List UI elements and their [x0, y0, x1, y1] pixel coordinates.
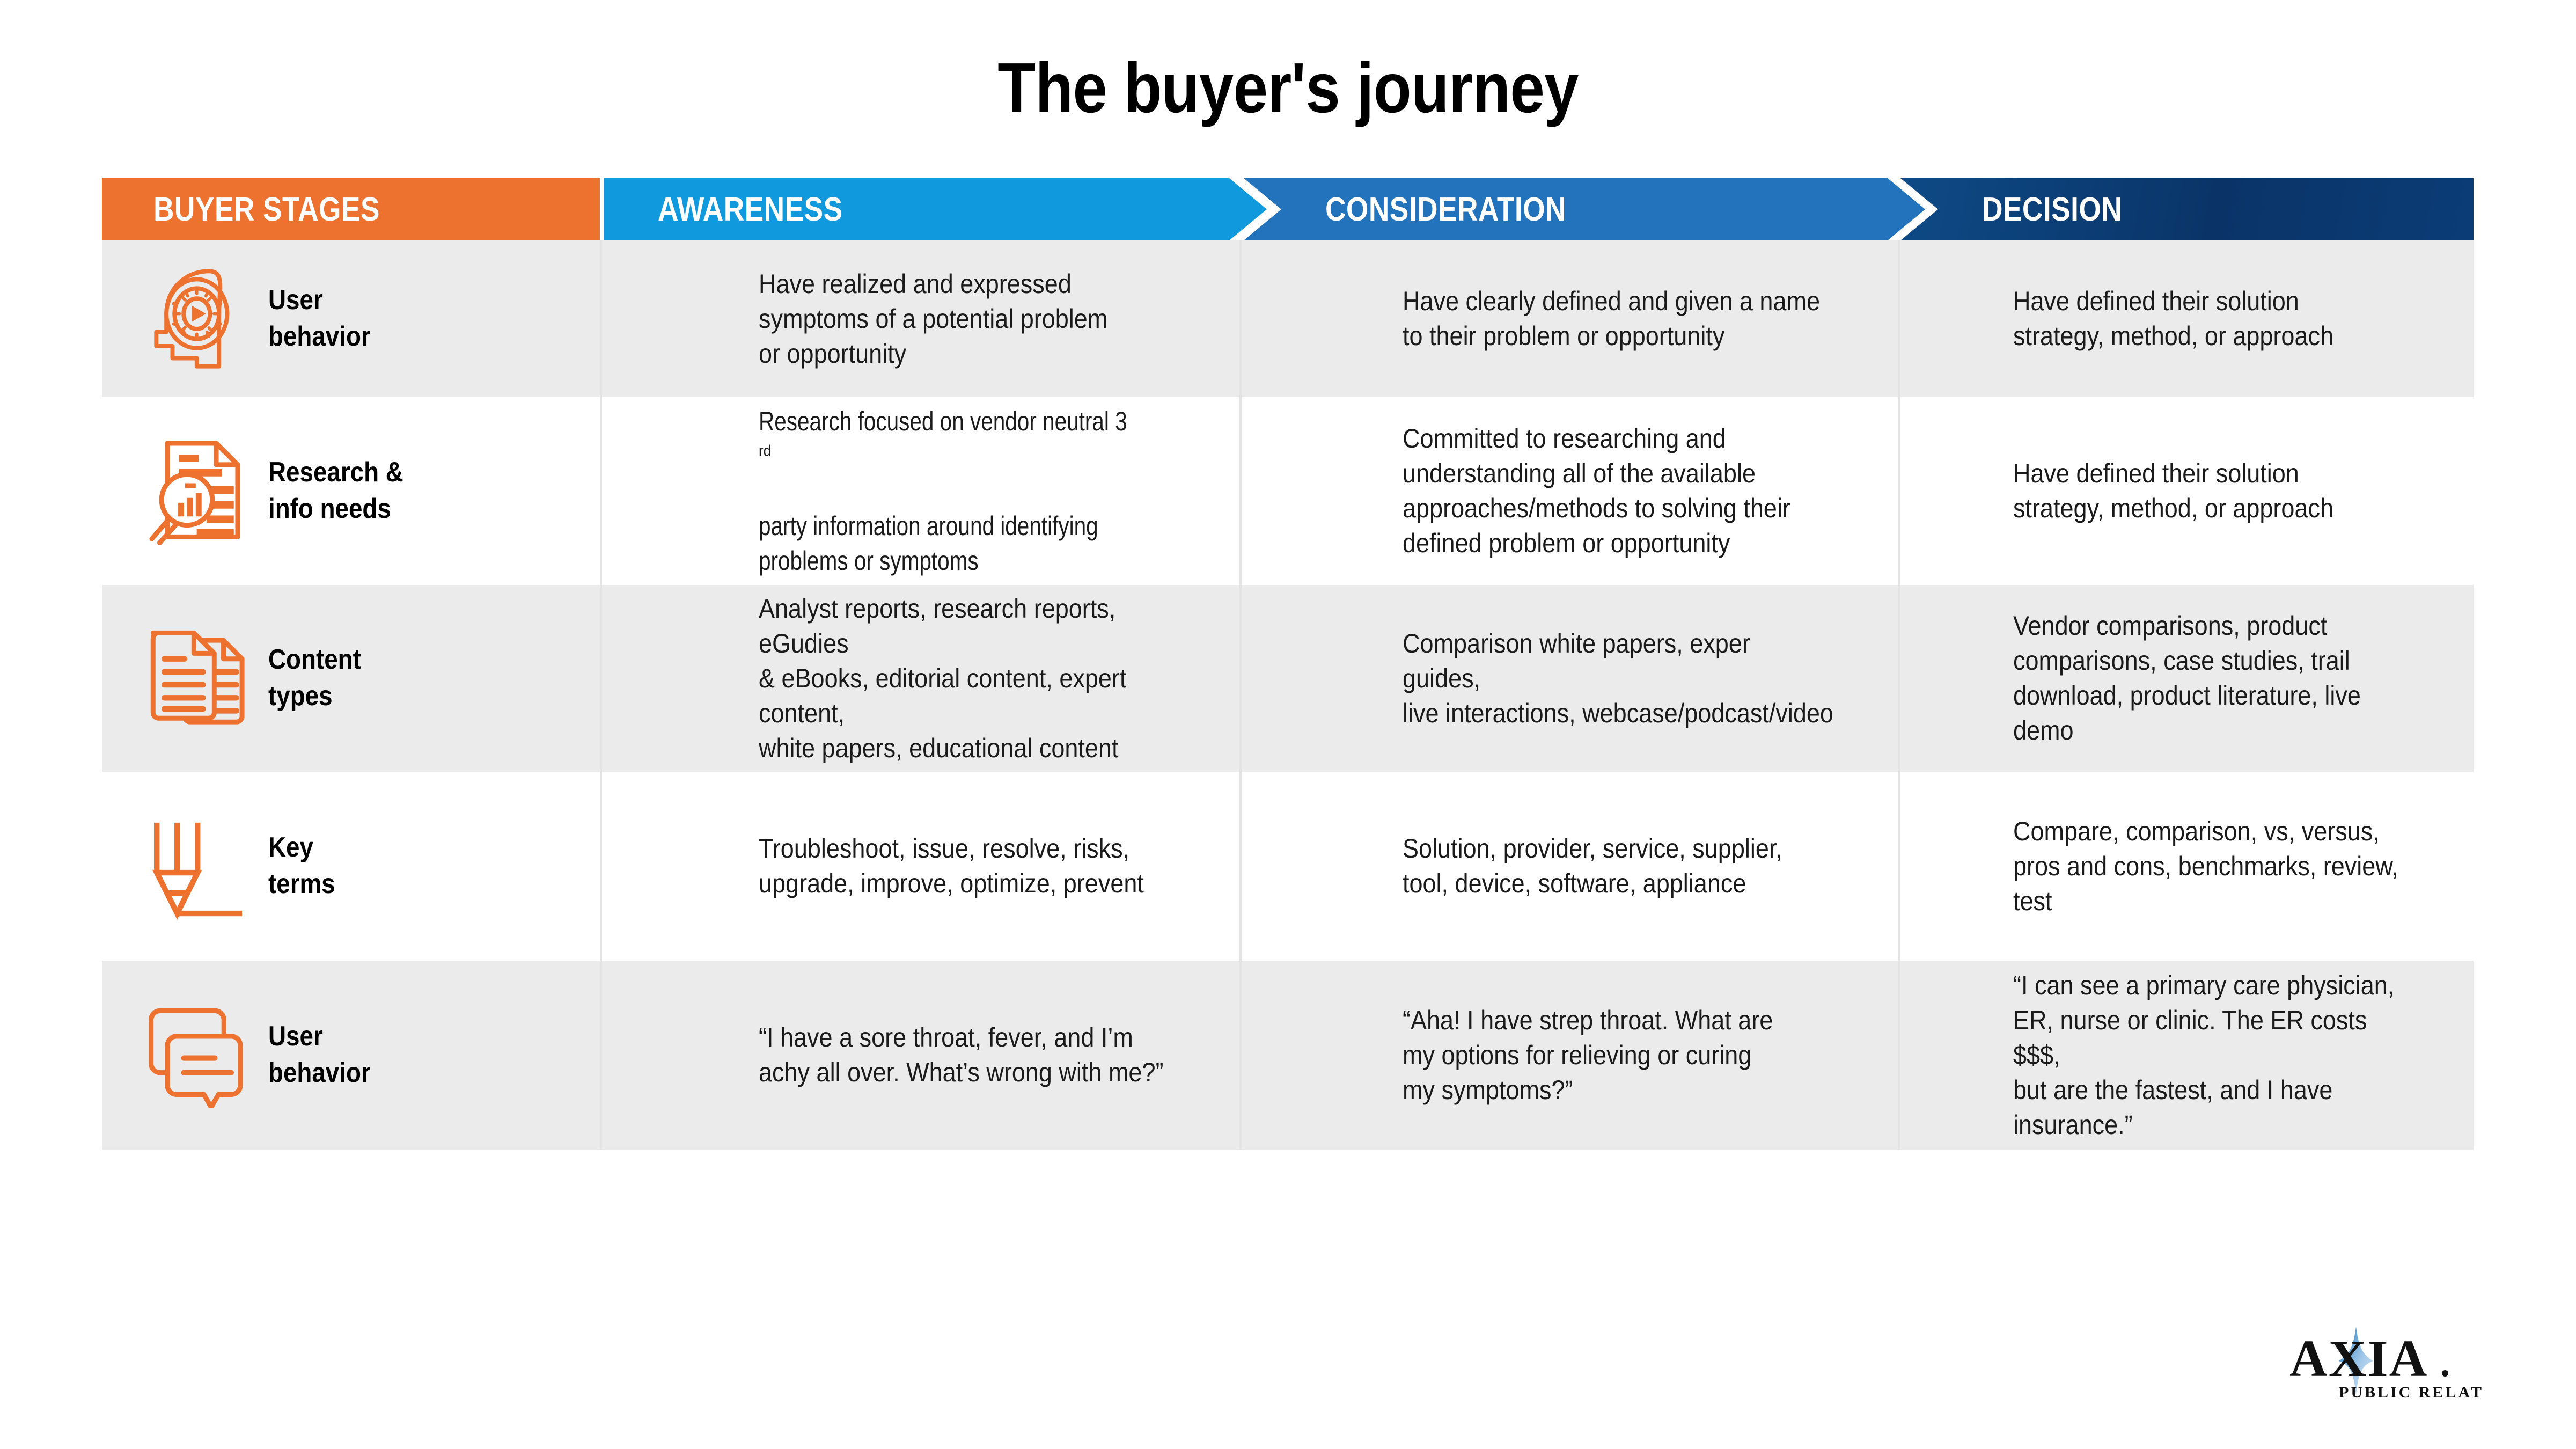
document-search-chart-icon — [133, 437, 256, 545]
axia-tagline: PUBLIC RELATIONS — [2339, 1384, 2482, 1401]
cell-awareness: Troubleshoot, issue, resolve, risks, upg… — [600, 772, 1239, 961]
cell-text: Vendor comparisons, product comparisons,… — [2013, 609, 2413, 748]
stage-cell: User behavior — [102, 961, 600, 1150]
cell-decision: Have defined their solution strategy, me… — [1900, 240, 2474, 397]
table-row: User behavior Have realized and expresse… — [102, 240, 2474, 397]
cell-text: Committed to researching and understandi… — [1403, 421, 1790, 561]
stage-cell: Research & info needs — [102, 397, 600, 585]
cell-decision: “I can see a primary care physician, ER,… — [1900, 961, 2474, 1150]
header-label-buyer-stages: BUYER STAGES — [153, 191, 380, 229]
table-row: Key terms Troubleshoot, issue, resolve, … — [102, 772, 2474, 961]
cell-decision: Have defined their solution strategy, me… — [1900, 397, 2474, 585]
header-label-decision: DECISION — [1982, 191, 2122, 229]
cell-consideration: “Aha! I have strep throat. What are my o… — [1242, 961, 1898, 1150]
buyer-journey-matrix: BUYER STAGES AWARENESS CONSIDERATION DEC… — [102, 178, 2474, 1150]
cell-text: “Aha! I have strep throat. What are my o… — [1403, 1003, 1773, 1108]
header-label-awareness: AWARENESS — [658, 191, 843, 229]
stacked-documents-icon — [133, 625, 256, 732]
cell-text: Troubleshoot, issue, resolve, risks, upg… — [759, 831, 1144, 901]
stage-label: User behavior — [268, 1019, 371, 1091]
cell-decision: Vendor comparisons, product comparisons,… — [1900, 585, 2474, 772]
table-row: Research & info needs Research focused o… — [102, 397, 2474, 585]
cell-text: Compare, comparison, vs, versus, pros an… — [2013, 814, 2413, 919]
cell-consideration: Solution, provider, service, supplier, t… — [1242, 772, 1898, 961]
cell-text: “I can see a primary care physician, ER,… — [2013, 968, 2413, 1143]
stage-label: Key terms — [268, 830, 335, 902]
cell-text: Analyst reports, research reports, eGudi… — [759, 591, 1177, 766]
stage-label: User behavior — [268, 282, 371, 355]
header-cell-awareness: AWARENESS — [604, 178, 1267, 240]
cell-awareness: “I have a sore throat, fever, and I’m ac… — [600, 961, 1239, 1150]
table-row: Content types Analyst reports, research … — [102, 585, 2474, 772]
stage-cell: User behavior — [102, 240, 600, 397]
cell-text: Research focused on vendor neutral 3rd p… — [759, 404, 1168, 579]
stage-cell: Content types — [102, 585, 600, 772]
stage-cell: Key terms — [102, 772, 600, 961]
matrix-header-row: BUYER STAGES AWARENESS CONSIDERATION DEC… — [102, 178, 2474, 240]
cell-text: Have defined their solution strategy, me… — [2013, 284, 2333, 354]
stage-label: Research & info needs — [268, 455, 403, 527]
axia-public-relations-logo: AXIA PUBLIC RELATIONS — [2274, 1322, 2482, 1404]
header-cell-consideration: CONSIDERATION — [1244, 178, 1925, 240]
cell-awareness: Analyst reports, research reports, eGudi… — [600, 585, 1239, 772]
axia-wordmark: AXIA — [2289, 1330, 2428, 1388]
cell-text: Have clearly defined and given a name to… — [1403, 284, 1820, 354]
cell-decision: Compare, comparison, vs, versus, pros an… — [1900, 772, 2474, 961]
cell-text: Comparison white papers, exper guides, l… — [1403, 626, 1834, 731]
cell-text: Solution, provider, service, supplier, t… — [1403, 831, 1782, 901]
header-label-consideration: CONSIDERATION — [1325, 191, 1566, 229]
cell-text: Have realized and expressed symptoms of … — [759, 267, 1107, 371]
pencil-icon — [133, 813, 256, 920]
table-row: User behavior “I have a sore throat, fev… — [102, 961, 2474, 1150]
ordinal-suffix: rd — [759, 442, 771, 459]
header-cell-buyer-stages: BUYER STAGES — [102, 178, 600, 240]
cell-text: Have defined their solution strategy, me… — [2013, 456, 2333, 526]
head-gear-icon — [133, 265, 256, 372]
cell-text: “I have a sore throat, fever, and I’m ac… — [759, 1020, 1163, 1090]
cell-awareness: Research focused on vendor neutral 3rd p… — [600, 397, 1239, 585]
page-title: The buyer's journey — [155, 47, 2421, 128]
logo-dot — [2442, 1370, 2448, 1377]
cell-text-post: party information around identifying pro… — [759, 474, 1127, 579]
speech-bubbles-icon — [133, 1003, 256, 1108]
cell-text-pre: Research focused on vendor neutral 3 — [759, 404, 1127, 439]
header-cell-decision: DECISION — [1900, 178, 2474, 240]
cell-consideration: Comparison white papers, exper guides, l… — [1242, 585, 1898, 772]
stage-label: Content types — [268, 642, 361, 714]
cell-awareness: Have realized and expressed symptoms of … — [600, 240, 1239, 397]
cell-consideration: Committed to researching and understandi… — [1242, 397, 1898, 585]
cell-consideration: Have clearly defined and given a name to… — [1242, 240, 1898, 397]
